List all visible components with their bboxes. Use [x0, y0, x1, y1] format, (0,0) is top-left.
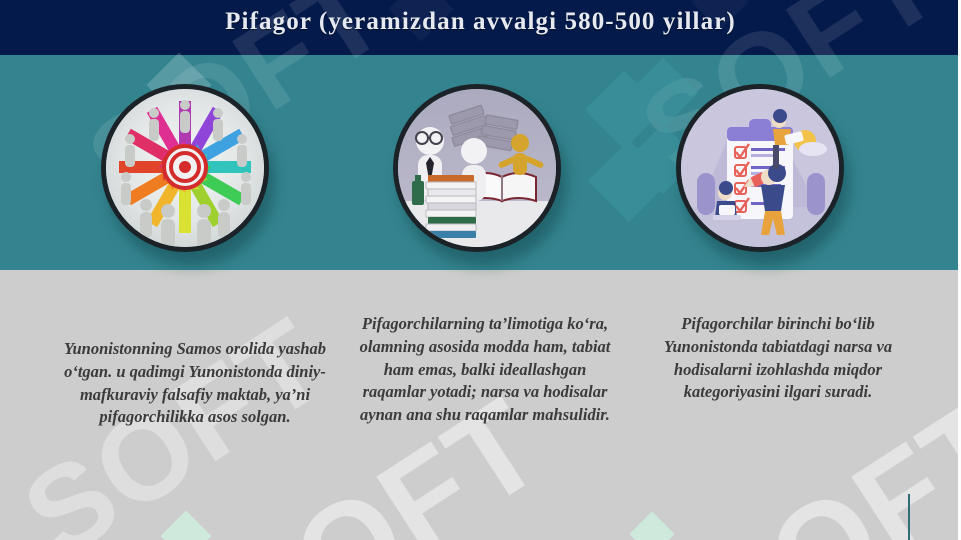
body-text-column-1: Yunonistonning Samos orolida yashab o‘tg… [52, 338, 338, 429]
circle-frame [101, 84, 269, 252]
image-target-arrows-teamwork [101, 84, 281, 274]
slide-canvas: SOFT SOFT SOFT SOFT SOFT Pifagor (yerami… [0, 0, 961, 540]
image-books-study-figures [393, 84, 573, 274]
circle-frame [676, 84, 844, 252]
bullseye [163, 145, 207, 189]
body-text-column-2: Pifagorchilarning ta’limotiga ko‘ra, ola… [352, 313, 618, 427]
book-stack [426, 175, 476, 238]
page-title: Pifagor (yeramizdan avvalgi 580-500 yill… [0, 8, 961, 36]
circle-frame [393, 84, 561, 252]
image-checklist-people-illustration [676, 84, 856, 274]
accent-rule [908, 494, 910, 540]
body-text-column-3: Pifagorchilar birinchi bo‘lib Yunoniston… [642, 313, 914, 404]
